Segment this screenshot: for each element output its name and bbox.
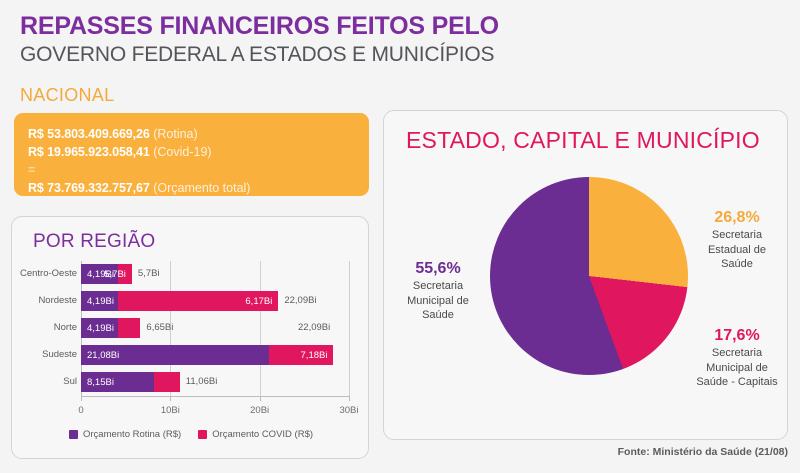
chart-axis-tick <box>349 396 350 401</box>
national-line-covid: R$ 19.965.923.058,41 (Covid-19) <box>28 143 369 161</box>
bar-segment-value-covid: 5,7Bi <box>104 269 126 280</box>
pie-chart-card: ESTADO, CAPITAL E MUNICÍPIO 26,8% Secret… <box>383 110 788 440</box>
bar-stack: 21,08Bi7,18Bi <box>81 345 333 365</box>
page-header: REPASSES FINANCEIROS FEITOS PELO GOVERNO… <box>20 12 560 68</box>
bar-category-label: Sul <box>63 376 77 387</box>
bar-stack: 4,19Bi6,17Bi <box>81 291 278 311</box>
bar-stack: 4,19Bi <box>81 318 140 338</box>
chart-axis-tick-label: 10Bi <box>161 405 180 416</box>
pie-desc-capitais-l3: Saúde - Capitais <box>687 375 787 389</box>
region-chart-card: POR REGIÃO 010Bi20Bi30BiCentro-Oeste4,19… <box>11 216 369 459</box>
pie-desc-estadual-l2: Estadual de <box>689 243 785 257</box>
pie-desc-capitais: Secretaria Municipal de Saúde - Capitais <box>687 346 787 388</box>
bar-segment-covid[interactable] <box>154 372 180 392</box>
legend-swatch <box>198 430 207 439</box>
bar-row[interactable]: Sudeste21,08Bi7,18Bi <box>12 342 370 369</box>
bar-row[interactable]: Norte4,19Bi6,65Bi22,09Bi <box>12 315 370 342</box>
pie-desc-municipal-l3: Saúde <box>390 308 486 322</box>
region-chart-legend: Orçamento Rotina (R$)Orçamento COVID (R$… <box>12 429 370 440</box>
bar-segment-rotina[interactable]: 4,19Bi <box>81 291 118 311</box>
pie-desc-municipal-l1: Secretaria <box>390 279 486 293</box>
bar-segment-covid[interactable]: 5,7Bi <box>118 264 131 284</box>
bar-segment-covid[interactable]: 7,18Bi <box>269 345 333 365</box>
pie-pct-municipal: 55,6% <box>390 259 486 279</box>
pie-desc-capitais-l1: Secretaria <box>687 346 787 360</box>
bar-segment-rotina[interactable]: 21,08Bi <box>81 345 269 365</box>
bar-total-label: 5,7Bi <box>138 268 160 279</box>
bar-stack: 8,15Bi <box>81 372 180 392</box>
pie-label-estadual: 26,8% Secretaria Estadual de Saúde <box>689 208 785 271</box>
pie-pct-estadual: 26,8% <box>689 208 785 228</box>
region-bar-chart: 010Bi20Bi30BiCentro-Oeste4,19Bi5,7Bi5,7B… <box>12 261 370 426</box>
bar-total-label: 6,65Bi <box>146 322 173 333</box>
bar-total-label: 22,09Bi <box>284 295 316 306</box>
chart-x-axis <box>81 396 349 397</box>
national-equals-sign: = <box>28 162 369 178</box>
pie-desc-estadual-l3: Saúde <box>689 257 785 271</box>
bar-segment-value-rotina: 21,08Bi <box>87 350 119 361</box>
national-tag-covid: (Covid-19) <box>153 145 211 159</box>
pie-pct-capitais: 17,6% <box>687 326 787 346</box>
national-tag-total: (Orçamento total) <box>153 181 250 195</box>
page-subtitle: GOVERNO FEDERAL A ESTADOS E MUNICÍPIOS <box>20 43 560 68</box>
legend-item[interactable]: Orçamento COVID (R$) <box>198 429 313 440</box>
pie-desc-estadual: Secretaria Estadual de Saúde <box>689 228 785 270</box>
pie-desc-municipal: Secretaria Municipal de Saúde <box>390 279 486 321</box>
region-chart-title: POR REGIÃO <box>33 231 155 253</box>
national-amount-rotina: R$ 53.803.409.669,26 <box>28 127 150 141</box>
pie-chart-title: ESTADO, CAPITAL E MUNICÍPIO <box>406 127 760 154</box>
legend-item[interactable]: Orçamento Rotina (R$) <box>69 429 181 440</box>
source-footnote: Fonte: Ministério da Saúde (21/08) <box>618 446 788 458</box>
legend-label: Orçamento Rotina (R$) <box>83 429 181 440</box>
bar-segment-value-covid: 7,18Bi <box>301 350 328 361</box>
bar-category-label: Sudeste <box>42 349 77 360</box>
bar-row[interactable]: Nordeste4,19Bi6,17Bi22,09Bi <box>12 288 370 315</box>
pie-desc-municipal-l2: Municipal de <box>390 294 486 308</box>
bar-row[interactable]: Sul8,15Bi11,06Bi <box>12 369 370 396</box>
bar-total-label: 11,06Bi <box>186 376 218 387</box>
bar-row[interactable]: Centro-Oeste4,19Bi5,7Bi5,7Bi <box>12 261 370 288</box>
bar-stack: 4,19Bi5,7Bi <box>81 264 132 284</box>
bar-segment-value-rotina: 8,15Bi <box>87 377 114 388</box>
pie-label-capitais: 17,6% Secretaria Municipal de Saúde - Ca… <box>687 326 787 389</box>
pie-desc-estadual-l1: Secretaria <box>689 228 785 242</box>
chart-axis-tick-label: 20Bi <box>250 405 269 416</box>
pie-chart-graphic <box>490 177 688 375</box>
bar-segment-value-rotina: 4,19Bi <box>87 296 114 307</box>
bar-category-label: Centro-Oeste <box>20 268 77 279</box>
section-label-nacional: NACIONAL <box>20 85 114 106</box>
chart-axis-tick-label: 30Bi <box>339 405 358 416</box>
chart-axis-tick-label: 0 <box>78 405 83 416</box>
bar-category-label: Norte <box>54 322 77 333</box>
pie-label-municipal: 55,6% Secretaria Municipal de Saúde <box>390 259 486 322</box>
legend-label: Orçamento COVID (R$) <box>212 429 313 440</box>
bar-segment-rotina[interactable]: 4,19Bi <box>81 318 118 338</box>
bar-segment-covid[interactable]: 6,17Bi <box>118 291 278 311</box>
pie-desc-capitais-l2: Municipal de <box>687 361 787 375</box>
bar-segment-rotina[interactable]: 8,15Bi <box>81 372 154 392</box>
national-line-total: R$ 73.769.332.757,67 (Orçamento total) <box>28 179 369 197</box>
bar-total-label-far: 22,09Bi <box>298 322 330 333</box>
national-amount-total: R$ 73.769.332.757,67 <box>28 181 150 195</box>
national-amount-covid: R$ 19.965.923.058,41 <box>28 145 150 159</box>
national-line-rotina: R$ 53.803.409.669,26 (Rotina) <box>28 125 369 143</box>
legend-swatch <box>69 430 78 439</box>
bar-segment-covid[interactable] <box>118 318 140 338</box>
bar-category-label: Nordeste <box>38 295 77 306</box>
page-title: REPASSES FINANCEIROS FEITOS PELO <box>20 12 560 40</box>
bar-segment-value-covid: 6,17Bi <box>245 296 272 307</box>
bar-segment-value-rotina: 4,19Bi <box>87 323 114 334</box>
national-totals-card: R$ 53.803.409.669,26 (Rotina) R$ 19.965.… <box>14 113 369 196</box>
national-tag-rotina: (Rotina) <box>153 127 197 141</box>
